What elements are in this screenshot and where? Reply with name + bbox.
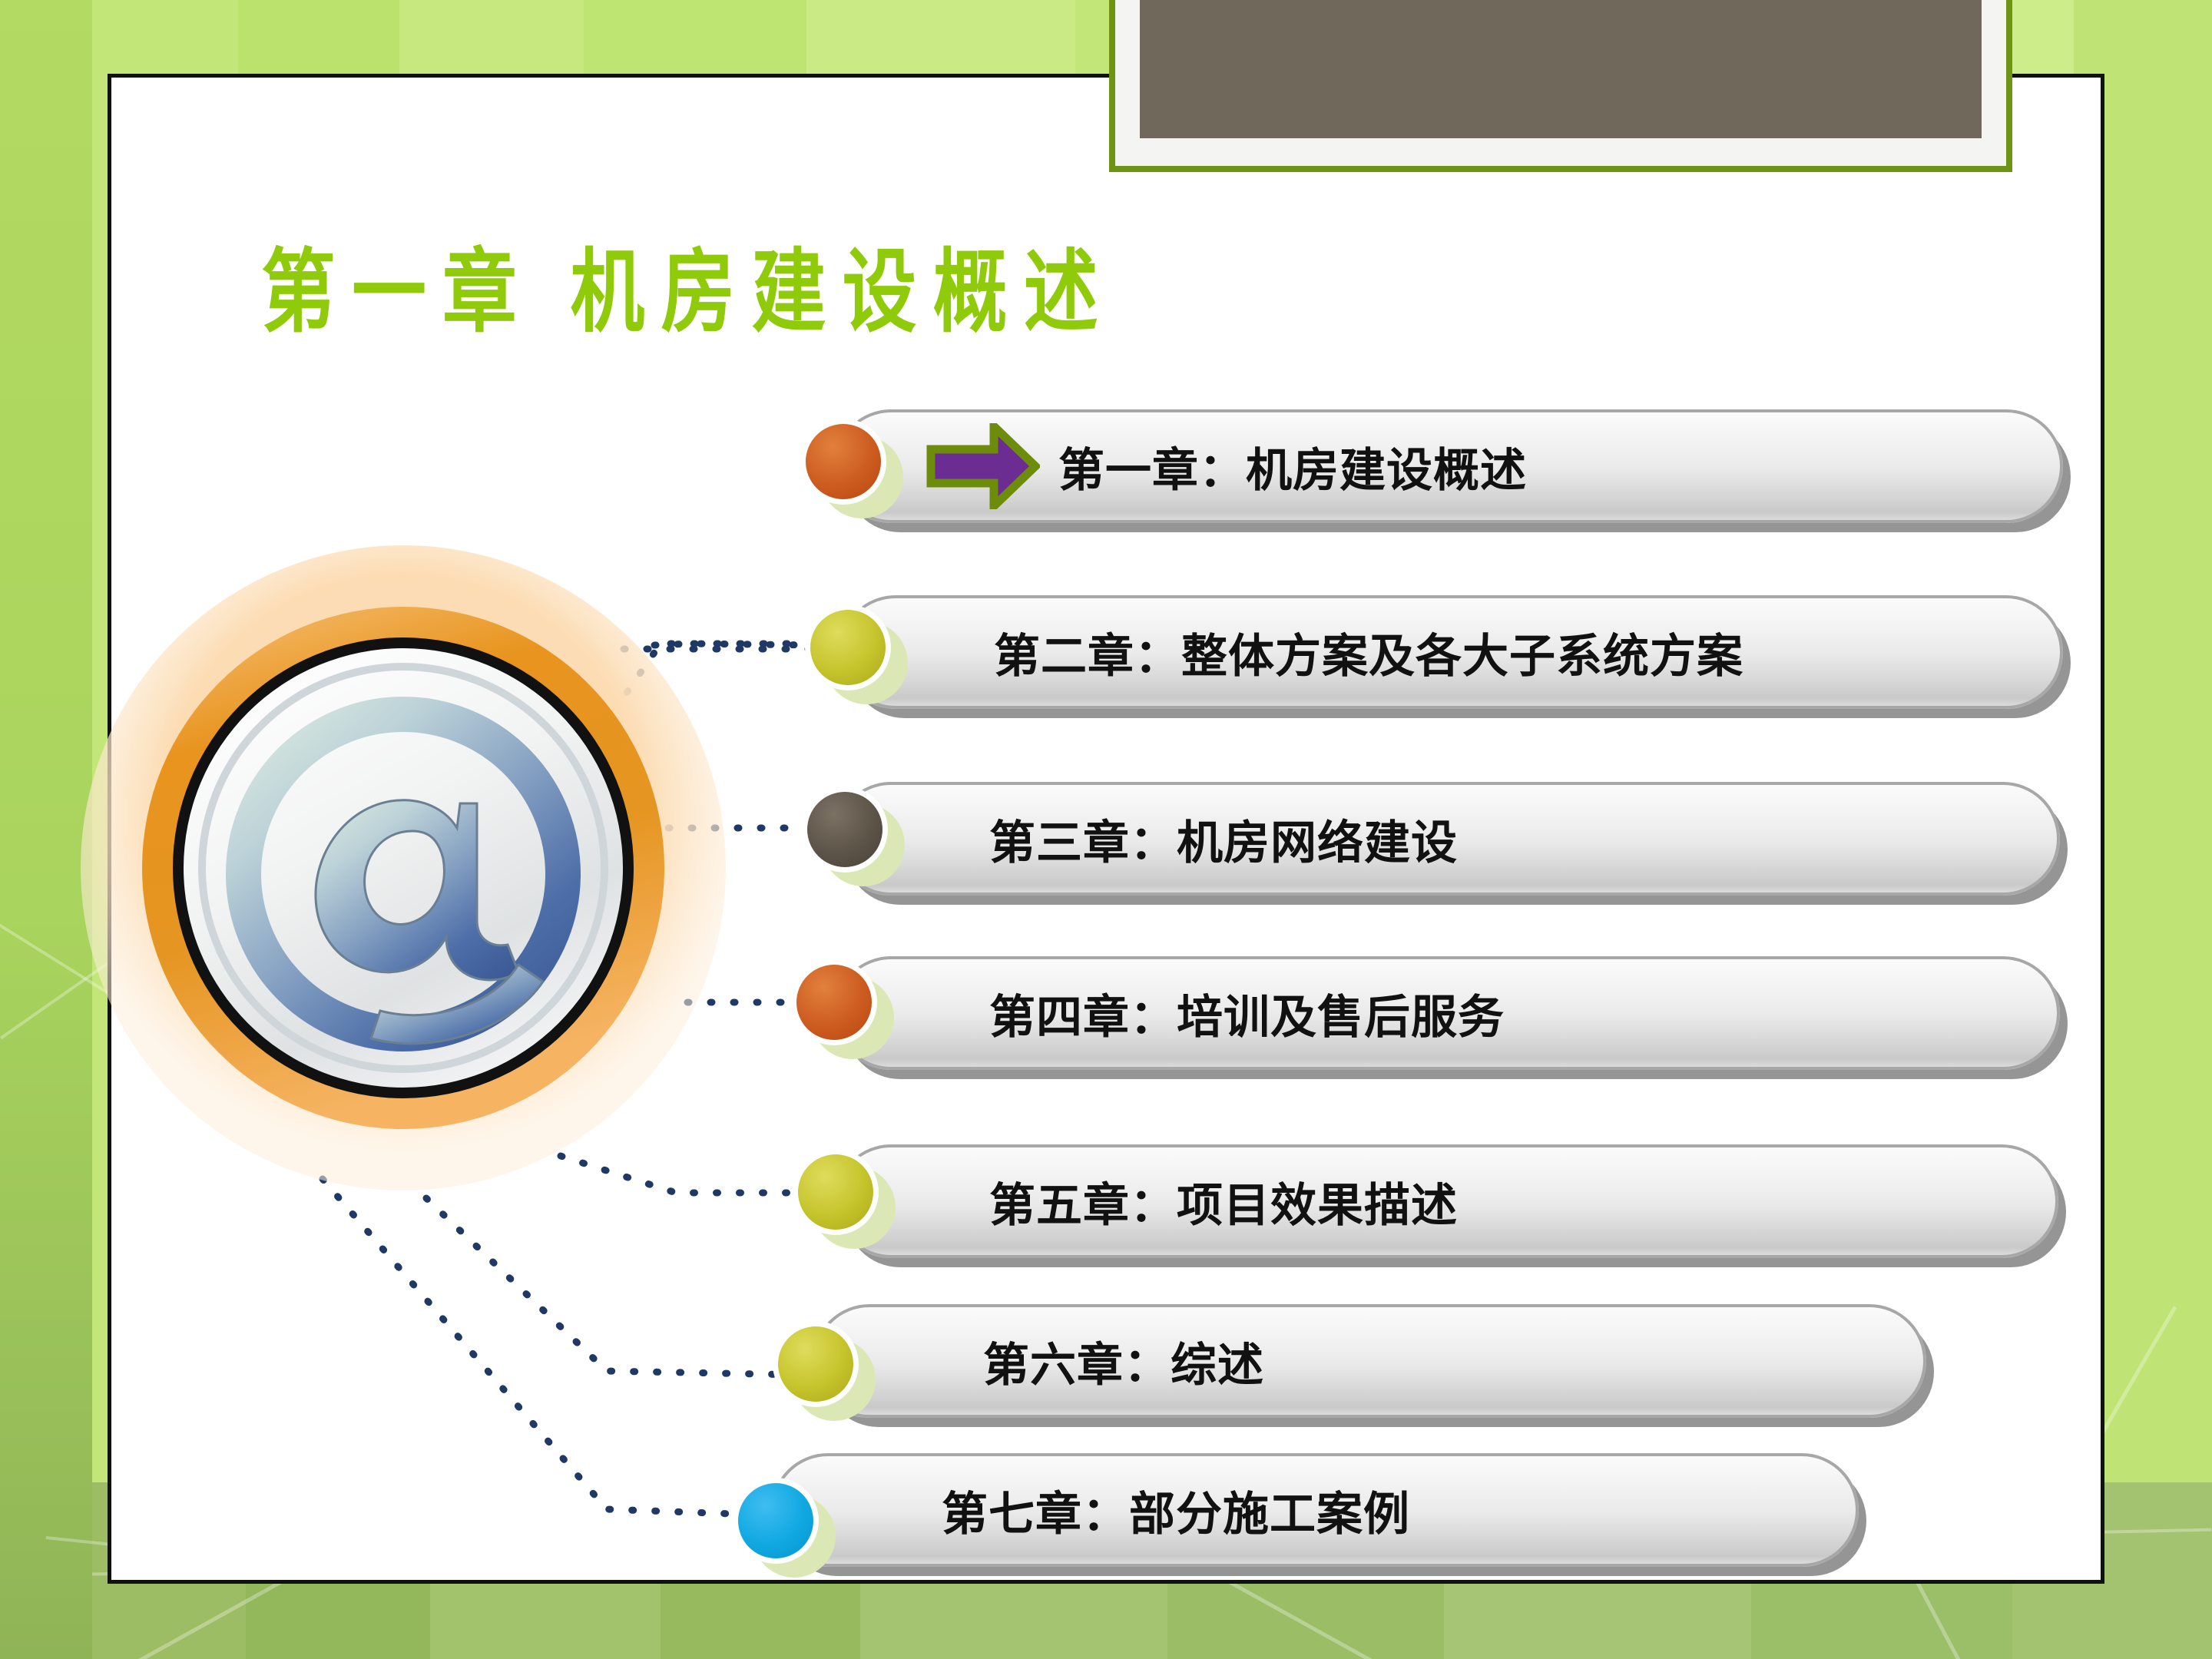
bullet-dot-olive[interactable] [773,1321,865,1413]
chapter-pill-4[interactable]: 第四章：培训及售后服务 [834,956,2060,1070]
chapter-row-4[interactable]: 第四章：培训及售后服务 [834,956,2060,1070]
chapter-label-4: 第四章：培训及售后服务 [989,980,1505,1047]
bullet-dot-cyan[interactable] [733,1478,825,1570]
chapter-label-3: 第三章：机房网络建设 [989,806,1458,873]
chapter-row-7[interactable]: 第七章：部分施工案例 [771,1453,1859,1567]
bullet-dot-brown[interactable] [802,786,894,879]
dot-fill [807,792,882,867]
chapter-pill-2[interactable]: 第二章：整体方案及各大子系统方案 [839,595,2063,709]
chapter-pill-7[interactable]: 第七章：部分施工案例 [771,1453,1859,1567]
chapter-row-3[interactable]: 第三章：机房网络建设 [834,782,2060,896]
chapter-row-5[interactable]: 第五章：项目效果描述 [834,1144,2058,1258]
dot-fill [796,965,872,1040]
bullet-dot-orange[interactable] [800,419,892,511]
dot-fill [738,1483,813,1558]
right-arrow-marker [926,423,1040,509]
dot-fill [810,610,886,685]
chapter-pill-5[interactable]: 第五章：项目效果描述 [834,1144,2058,1258]
chapter-list: 第一章：机房建设概述 第二章：整体方案及各大子系统方案 第三章：机房网络建设 [0,0,2212,1659]
chapter-label-2: 第二章：整体方案及各大子系统方案 [994,619,1743,686]
chapter-label-7: 第七章：部分施工案例 [942,1477,1410,1544]
bullet-dot-orange[interactable] [791,959,883,1051]
bullet-dot-olive[interactable] [793,1149,885,1241]
dot-fill [778,1326,853,1402]
chapter-label-6: 第六章：综述 [983,1328,1264,1395]
chapter-pill-6[interactable]: 第六章：综述 [813,1304,1926,1418]
chapter-row-1[interactable]: 第一章：机房建设概述 [834,409,2063,523]
bullet-dot-olive[interactable] [805,604,897,697]
chapter-label-5: 第五章：项目效果描述 [989,1168,1458,1235]
photo-frame [1109,0,2012,172]
chapter-pill-1[interactable]: 第一章：机房建设概述 [834,409,2063,523]
photo-placeholder [1140,0,1982,138]
dot-fill [798,1154,873,1230]
chapter-label-1: 第一章：机房建设概述 [1058,433,1527,500]
chapter-pill-3[interactable]: 第三章：机房网络建设 [834,782,2060,896]
dot-fill [806,424,881,499]
presentation-slide: 第一章 机房建设概述 [0,0,2212,1659]
chapter-row-2[interactable]: 第二章：整体方案及各大子系统方案 [839,595,2063,709]
chapter-row-6[interactable]: 第六章：综述 [813,1304,1926,1418]
